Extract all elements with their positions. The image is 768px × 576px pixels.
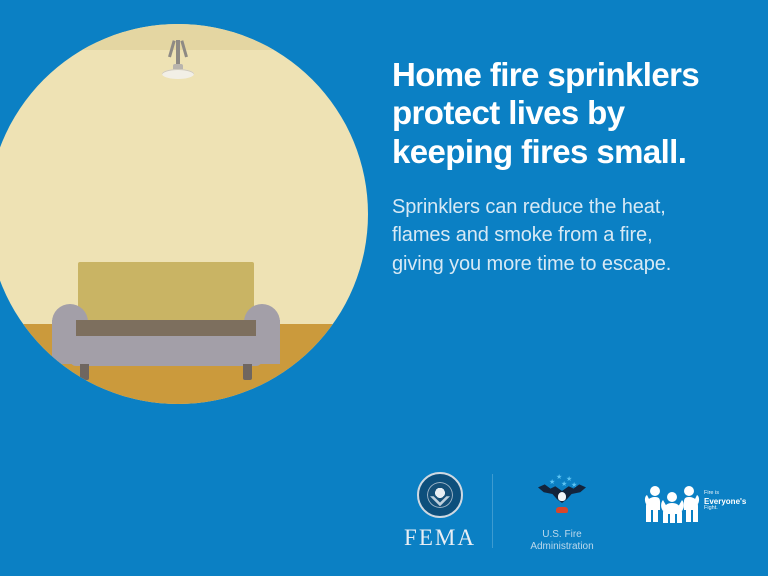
couch-leg-right [243,364,252,380]
illustration-living-room [0,24,368,404]
usfa-logo: ★★★★★ U.S. Fire Administration [510,474,614,553]
dhs-seal-icon [417,472,463,518]
sprinkler-prong-left [168,40,176,57]
fief-line-2: Everyone's [704,498,746,506]
usfa-eagle-icon: ★★★★★ [536,474,588,520]
usfa-line-2: Administration [530,541,593,552]
fema-wordmark: FEMA [398,525,482,551]
headline-line-3: keeping fires small. [392,133,686,170]
logo-divider [492,474,493,548]
couch [52,262,280,382]
usfa-wordmark: U.S. Fire Administration [510,529,614,553]
usfa-line-1: U.S. Fire [542,529,581,540]
fief-line-1: Fire is [704,490,746,498]
page-subhead: Sprinklers can reduce the heat, flames a… [392,193,742,278]
scene-circle [0,24,368,404]
page-headline: Home fire sprinklers protect lives by ke… [392,56,742,171]
flame-icon [556,507,568,513]
sprinkler-deflector [162,69,194,79]
subhead-line-1: Sprinklers can reduce the heat, [392,196,666,218]
fema-logo: FEMA [398,472,482,551]
couch-back-cushion [78,262,254,324]
headline-line-1: Home fire sprinklers [392,56,699,93]
fief-wordmark: Fire is Everyone's Fight. [704,490,746,513]
fire-safety-poster: Home fire sprinklers protect lives by ke… [0,0,768,576]
fief-line-3: Fight. [704,505,746,513]
three-people-icon [644,482,700,524]
footer-logos: FEMA ★★★★★ U.S. Fire Administration [392,470,752,554]
subhead-line-2: flames and smoke from a fire, [392,224,653,246]
eagle-head-icon [558,492,566,501]
subhead-line-3: giving you more time to escape. [392,253,671,275]
couch-leg-left [80,364,89,380]
fire-is-everyones-fight-logo: Fire is Everyone's Fight. [644,482,752,530]
copy-block: Home fire sprinklers protect lives by ke… [392,56,742,278]
headline-line-2: protect lives by [392,94,625,131]
ceiling-sprinkler-icon [158,40,198,82]
couch-base [70,336,262,366]
sprinkler-prong-right [180,40,188,57]
